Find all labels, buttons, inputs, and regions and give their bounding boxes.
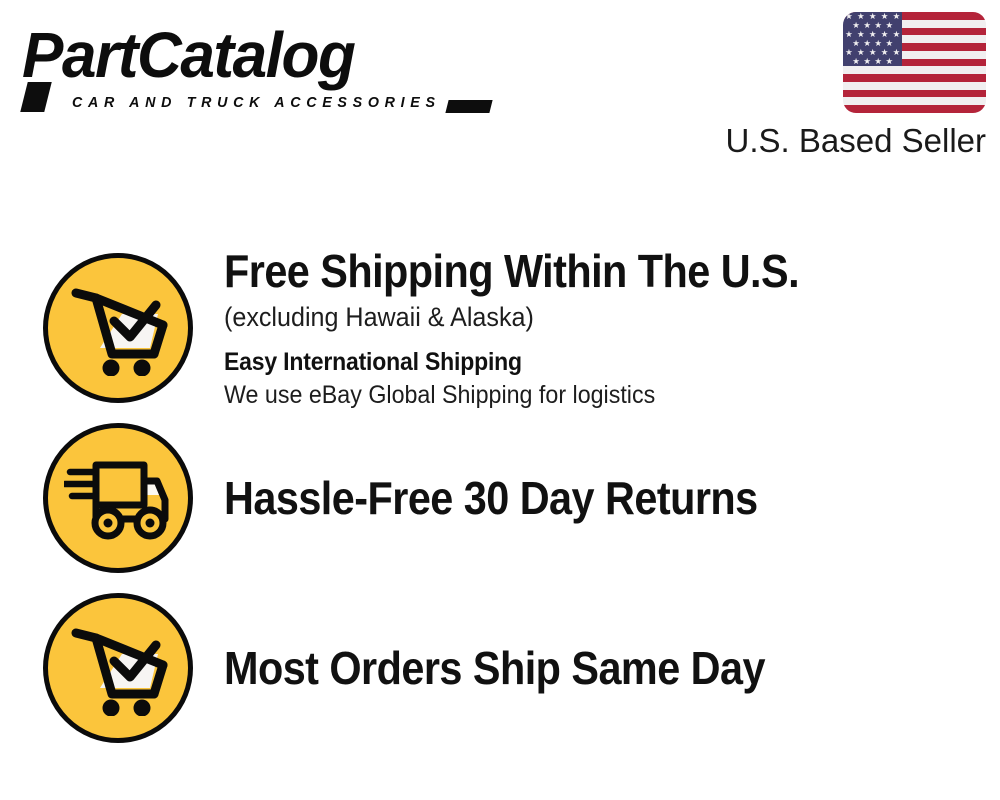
- brand-tagline: CAR AND TRUCK ACCESSORIES: [72, 94, 441, 111]
- feature-headline: Free Shipping Within The U.S.: [224, 245, 904, 297]
- flag-star: ★: [874, 58, 882, 67]
- brand-logo[interactable]: PartCatalog CAR AND TRUCK ACCESSORIES: [22, 20, 492, 115]
- feature-text: Most Orders Ship Same Day: [224, 642, 1000, 694]
- feature-subline: (excluding Hawaii & Alaska): [224, 299, 927, 335]
- us-based-seller-badge: ★★★★★★★★★★★★★★★★★★★★★★★★★★★ U.S. Based S…: [724, 12, 986, 160]
- feature-row: Most Orders Ship Same Day: [0, 588, 1000, 748]
- feature-headline: Hassle-Free 30 Day Returns: [224, 472, 904, 524]
- feature-headline: Most Orders Ship Same Day: [224, 642, 904, 694]
- flag-star: ★: [893, 30, 901, 39]
- flag-stripe: [843, 66, 986, 74]
- flag-stripe: [843, 90, 986, 98]
- flag-stripe: [843, 82, 986, 90]
- logo-accent-right: [445, 100, 492, 113]
- feature-subnote: We use eBay Global Shipping for logistic…: [224, 379, 927, 412]
- flag-star: ★: [893, 12, 901, 21]
- feature-text: Free Shipping Within The U.S. (excluding…: [224, 245, 1000, 412]
- flag-stripe: [843, 105, 986, 113]
- flag-star: ★: [885, 58, 893, 67]
- feature-subhead: Easy International Shipping: [224, 345, 920, 379]
- flag-star: ★: [852, 58, 860, 67]
- seller-caption: U.S. Based Seller: [724, 122, 986, 160]
- feature-row: Free Shipping Within The U.S. (excluding…: [0, 248, 1000, 408]
- feature-list: Free Shipping Within The U.S. (excluding…: [0, 170, 1000, 800]
- shopping-cart-check-icon: [43, 593, 193, 743]
- brand-wordmark: PartCatalog: [22, 20, 354, 90]
- delivery-truck-icon: [43, 423, 193, 573]
- flag-canton: ★★★★★★★★★★★★★★★★★★★★★★★★★★★: [843, 12, 902, 66]
- feature-text: Hassle-Free 30 Day Returns: [224, 472, 1000, 524]
- flag-star: ★: [863, 58, 871, 67]
- flag-star: ★: [893, 49, 901, 58]
- flag-stripe: [843, 97, 986, 105]
- shopping-cart-check-icon: [43, 253, 193, 403]
- flag-stripe: [843, 74, 986, 82]
- feature-row: Hassle-Free 30 Day Returns: [0, 418, 1000, 578]
- page-header: PartCatalog CAR AND TRUCK ACCESSORIES ★★…: [0, 0, 1000, 170]
- us-flag-icon: ★★★★★★★★★★★★★★★★★★★★★★★★★★★: [843, 12, 986, 113]
